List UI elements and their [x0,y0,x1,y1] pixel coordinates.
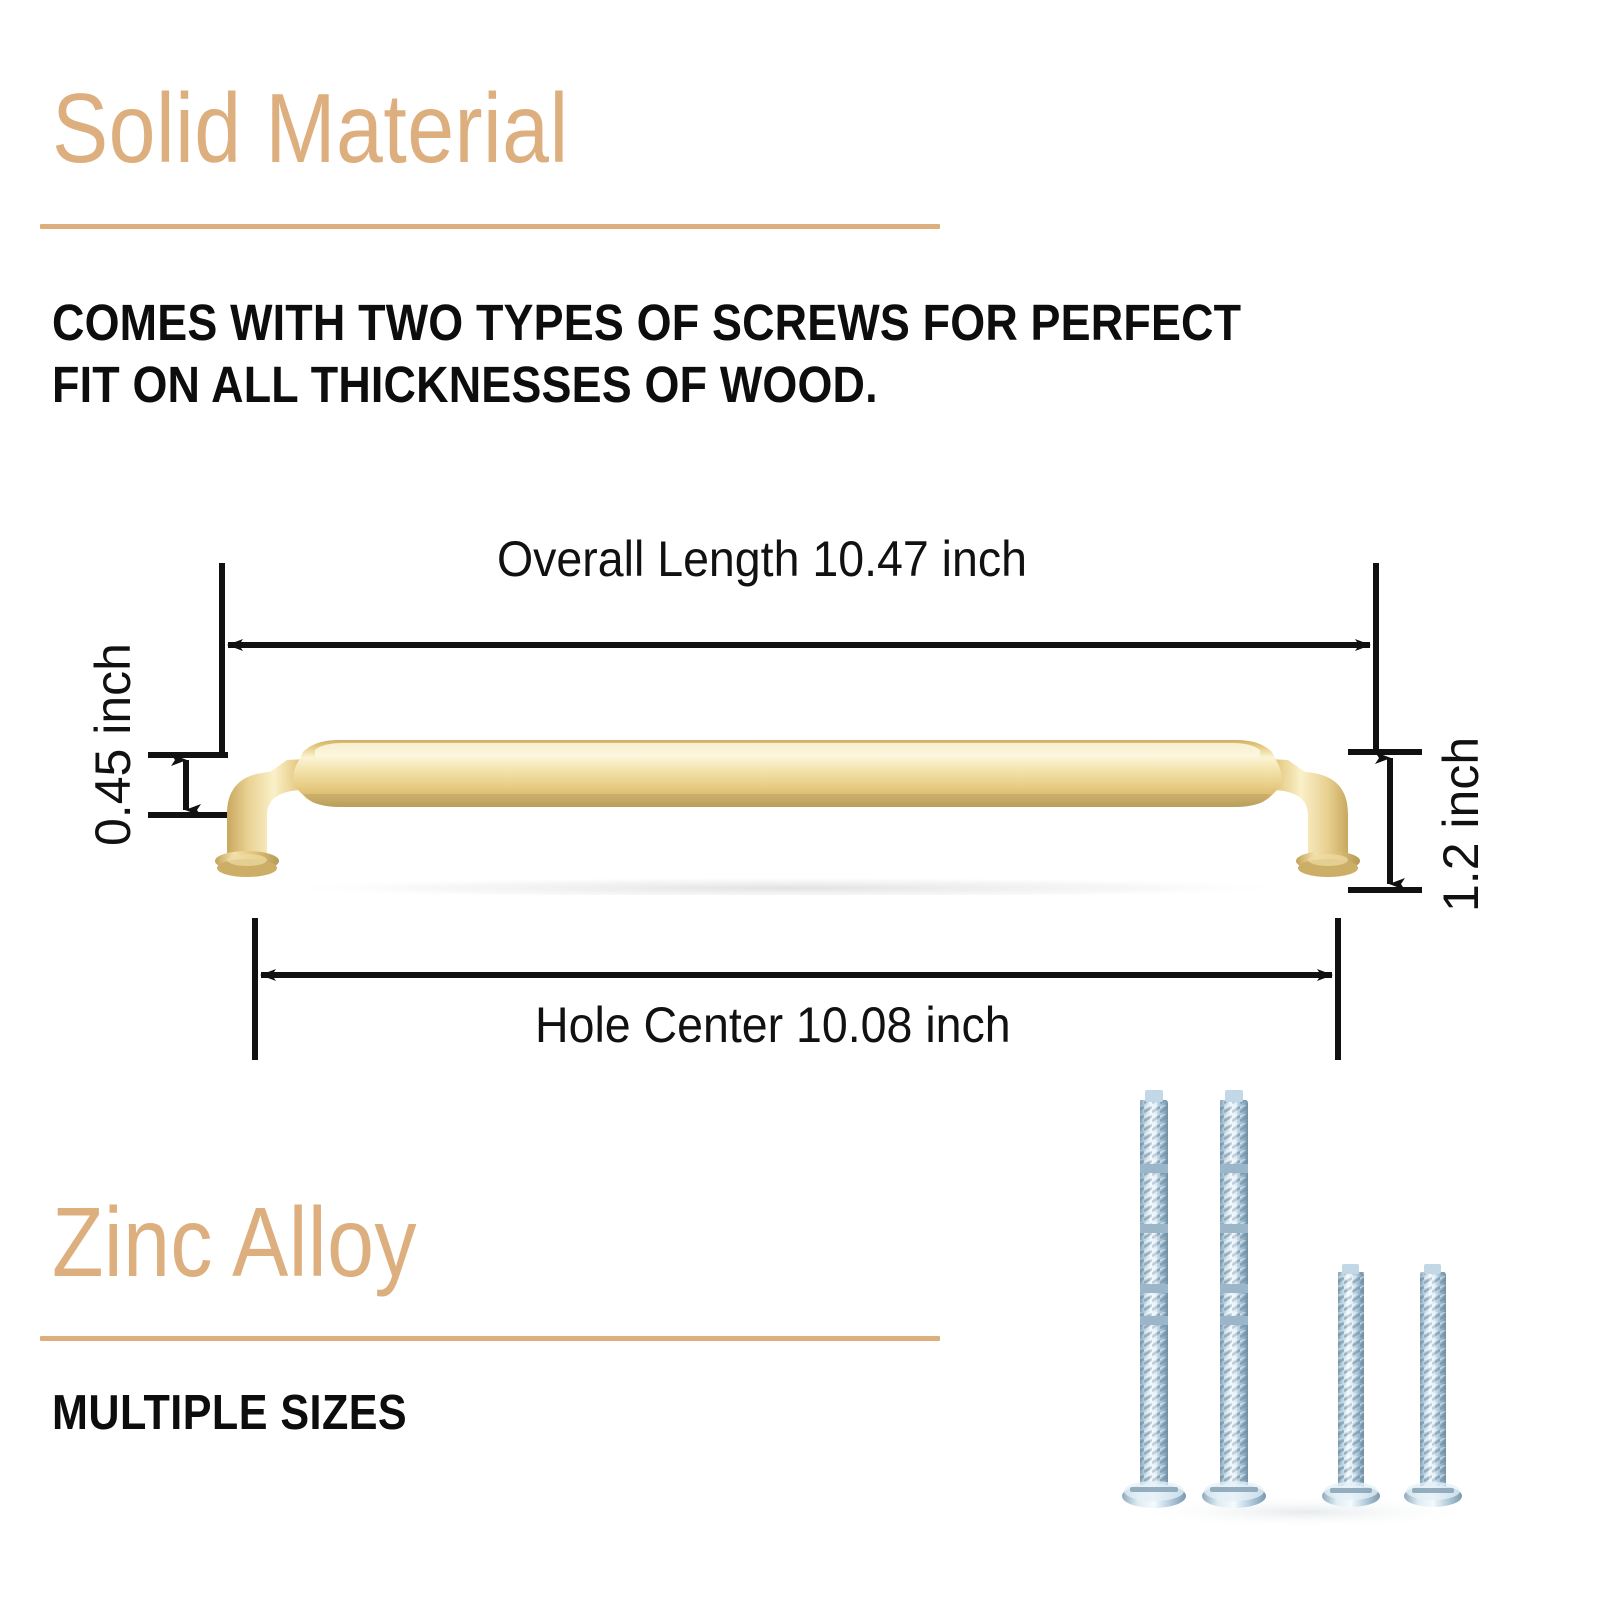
screw-long-2 [1202,1090,1266,1508]
dimension-label-height: 1.2 inch [1432,737,1490,912]
screws-feature-text: COMES WITH TWO TYPES OF SCREWS FOR PERFE… [52,292,1241,416]
zinc-alloy-heading: Zinc Alloy [52,1192,417,1292]
heading-divider-bottom [40,1336,940,1341]
dimension-label-overall-length: Overall Length 10.47 inch [497,530,1027,588]
dimension-label-hole-center: Hole Center 10.08 inch [535,996,1011,1054]
product-infographic: Solid Material COMES WITH TWO TYPES OF S… [0,0,1600,1600]
screw-short-2 [1404,1264,1462,1507]
heading-divider-top [40,224,940,229]
handle-bar-bevel [303,794,1272,807]
mounting-screws-image [1120,1060,1490,1530]
dimension-label-projection: 0.45 inch [84,643,142,846]
handle-bar-highlight [315,743,1260,757]
screw-long-1 [1122,1090,1186,1508]
handle-shadow [267,877,1307,895]
solid-material-heading: Solid Material [52,78,569,178]
screw-short-1 [1322,1264,1380,1507]
handle-left-foot-highlight [227,854,267,866]
cabinet-pull-handle-image [215,730,1360,895]
handle-right-foot-highlight [1308,854,1348,866]
multiple-sizes-text: MULTIPLE SIZES [52,1384,407,1442]
